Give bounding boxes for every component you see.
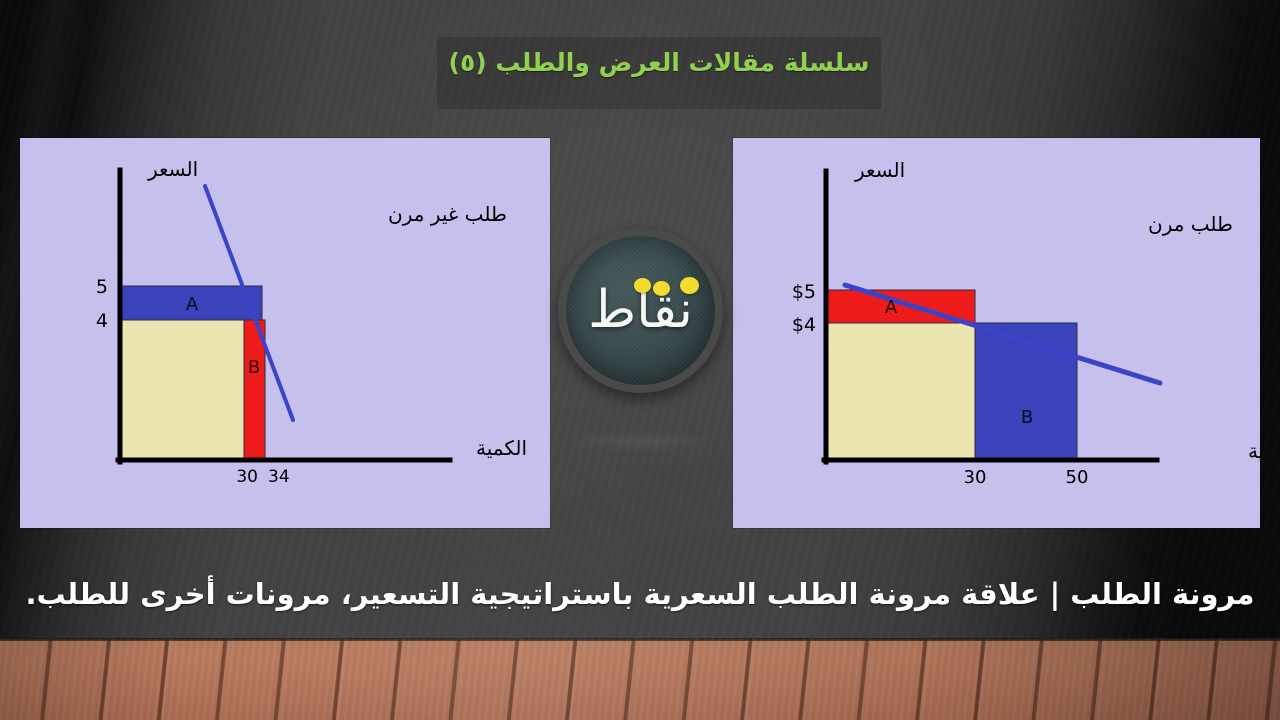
y-tick-4: $4 (792, 314, 816, 336)
region-a-label: A (186, 294, 199, 315)
page-title: سلسلة مقالات العرض والطلب (٥) (437, 48, 881, 77)
x-tick-50: 50 (1066, 467, 1089, 488)
logo-disc: نقاط (566, 236, 715, 385)
logo-dot-icon (680, 277, 699, 294)
y-tick-5: $5 (792, 281, 816, 303)
curve-annotation: طلب مرن (1148, 212, 1233, 236)
x-axis-title: الكمية (1248, 439, 1260, 463)
x-tick-30: 30 (236, 467, 258, 487)
y-tick-4: 4 (96, 310, 108, 332)
chart-panel-elastic: $5 $4 30 50 A B السعر الكمية طلب مرن (733, 138, 1260, 528)
region-base-revenue (122, 320, 262, 461)
slide-canvas: سلسلة مقالات العرض والطلب (٥) 5 4 30 34 … (0, 0, 1280, 720)
x-axis-title: الكمية (476, 436, 527, 460)
region-a-label: A (885, 297, 898, 318)
logo-dot-icon (653, 281, 670, 296)
elastic-demand-chart: $5 $4 30 50 A B السعر الكمية طلب مرن (733, 138, 1260, 528)
y-axis-title: السعر (854, 158, 905, 182)
inelastic-demand-chart: 5 4 30 34 A B السعر الكمية طلب غير مرن (20, 138, 550, 528)
brand-logo[interactable]: نقاط (558, 228, 723, 393)
logo-drop-shadow (566, 430, 716, 452)
region-b-label: B (248, 357, 260, 378)
region-base-revenue (828, 323, 975, 460)
y-axis-title: السعر (147, 157, 198, 181)
wood-floor (0, 638, 1280, 720)
floor-shading (0, 638, 1280, 720)
slide-caption: مرونة الطلب | علاقة مرونة الطلب السعرية … (0, 568, 1280, 620)
region-b-label: B (1021, 407, 1033, 428)
chart-panel-inelastic: 5 4 30 34 A B السعر الكمية طلب غير مرن (20, 138, 550, 528)
x-tick-34: 34 (268, 467, 290, 487)
y-tick-5: 5 (96, 276, 108, 298)
logo-dot-icon (634, 278, 651, 293)
x-tick-30: 30 (964, 467, 987, 488)
curve-annotation: طلب غير مرن (388, 202, 507, 226)
